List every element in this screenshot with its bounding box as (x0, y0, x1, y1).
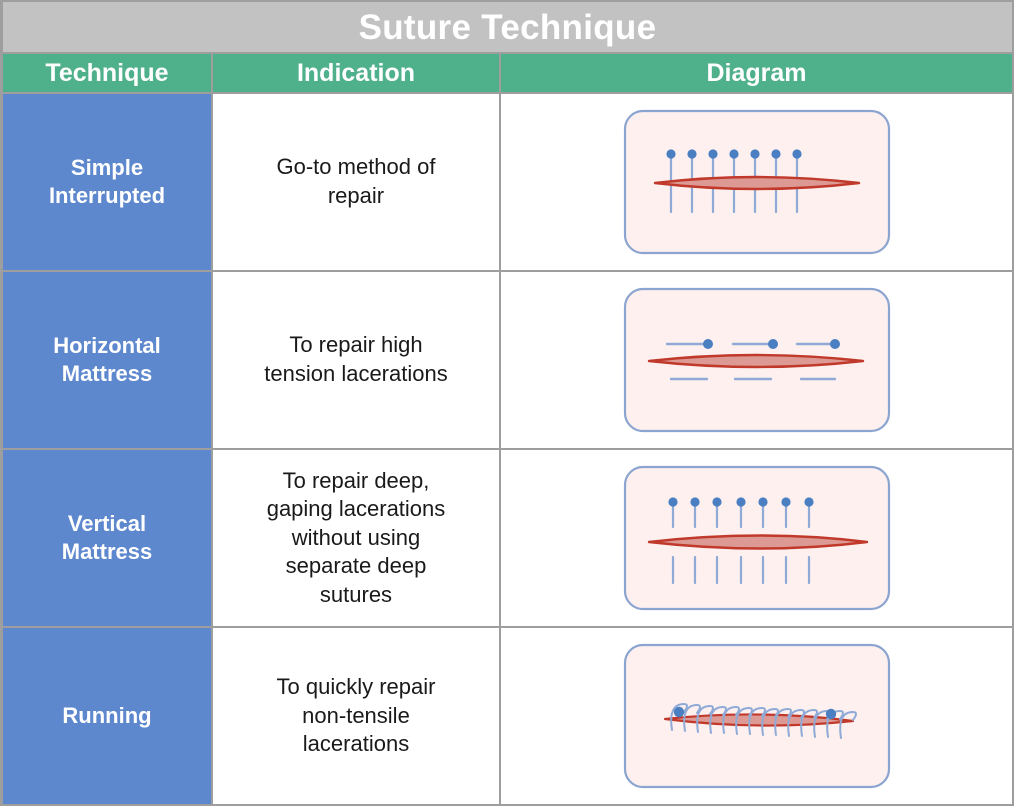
table-row: Vertical Mattress To repair deep, gaping… (3, 450, 1012, 628)
diagram-cell (501, 450, 1012, 626)
indication-cell: To quickly repair non-tensile laceration… (213, 628, 501, 804)
diagram-cell (501, 94, 1012, 270)
column-header-indication: Indication (213, 54, 501, 92)
table-header-row: Technique Indication Diagram (3, 54, 1012, 94)
table-title-bar: Suture Technique (3, 2, 1012, 54)
table-row: Running To quickly repair non-tensile la… (3, 628, 1012, 804)
column-header-diagram: Diagram (501, 54, 1012, 92)
technique-name-cell: Simple Interrupted (3, 94, 213, 270)
horizontal-mattress-diagram (623, 287, 891, 433)
suture-technique-table: Suture Technique Technique Indication Di… (0, 0, 1014, 806)
table-body: Simple Interrupted Go-to method of repai… (3, 94, 1012, 804)
diagram-cell (501, 628, 1012, 804)
indication-cell: To repair high tension lacerations (213, 272, 501, 448)
vertical-mattress-diagram (623, 465, 891, 611)
technique-name-cell: Horizontal Mattress (3, 272, 213, 448)
column-header-technique: Technique (3, 54, 213, 92)
technique-name-cell: Running (3, 628, 213, 804)
running-diagram (623, 643, 891, 789)
technique-name-cell: Vertical Mattress (3, 450, 213, 626)
table-row: Simple Interrupted Go-to method of repai… (3, 94, 1012, 272)
indication-cell: To repair deep, gaping lacerations witho… (213, 450, 501, 626)
simple-interrupted-diagram (623, 109, 891, 255)
diagram-cell (501, 272, 1012, 448)
indication-cell: Go-to method of repair (213, 94, 501, 270)
suture-technique-table-page: Suture Technique Technique Indication Di… (0, 0, 1024, 808)
page-title: Suture Technique (359, 10, 657, 45)
table-row: Horizontal Mattress To repair high tensi… (3, 272, 1012, 450)
